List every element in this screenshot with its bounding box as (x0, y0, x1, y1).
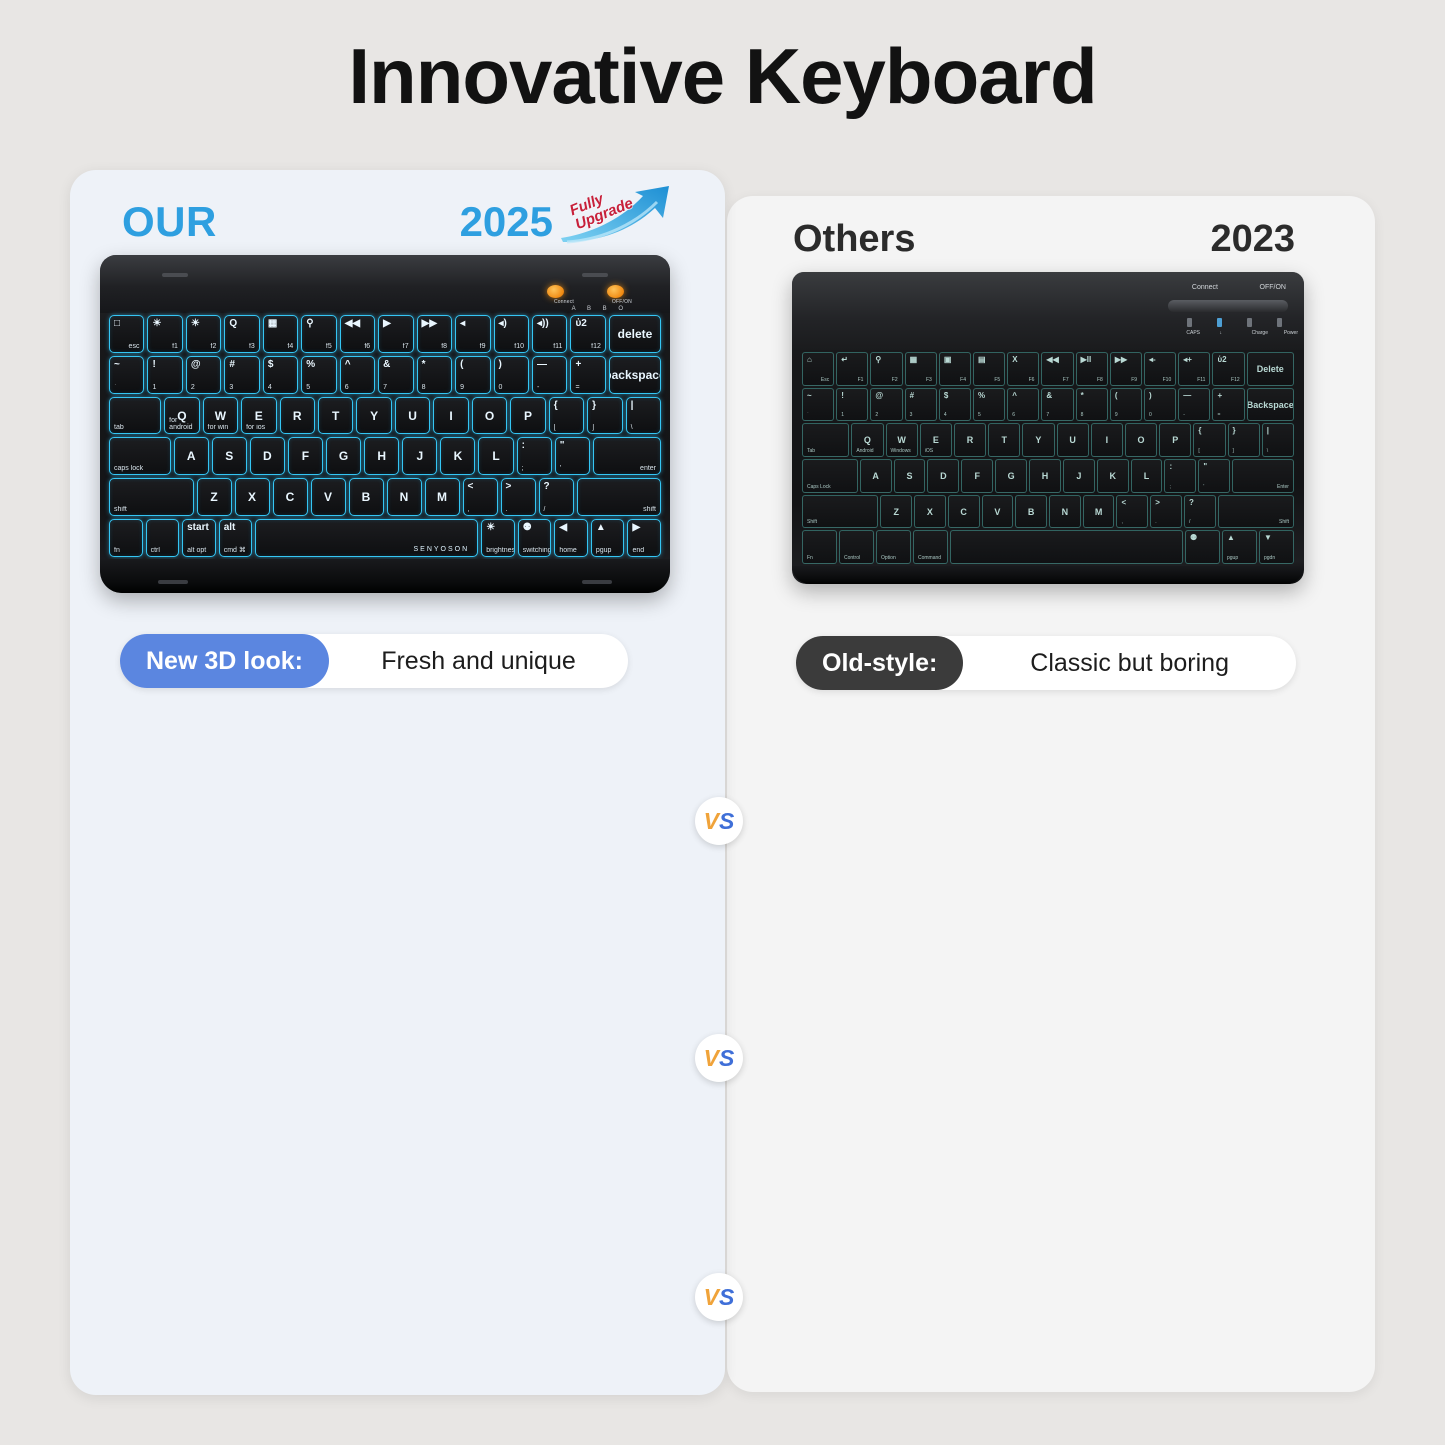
others-indicator-charge: Charge (1252, 330, 1268, 336)
key-sublabel: Android (856, 448, 873, 454)
keyboard-key[interactable]: (9 (455, 356, 490, 394)
key-primary-label: { (554, 400, 558, 411)
keyboard-key[interactable]: G (326, 437, 361, 475)
key-sublabel: pgup (1227, 555, 1238, 561)
others-keyboard-image: Connect OFF/ON CAPS ↓ Charge Power ⌂Esc↵… (792, 272, 1304, 584)
key-primary-label: ? (1189, 498, 1194, 507)
keyboard-key[interactable]: ☀f2 (186, 315, 221, 353)
keyboard-key[interactable]: ^6 (340, 356, 375, 394)
key-label: H (1030, 460, 1060, 492)
keyboard-key[interactable]: H (364, 437, 399, 475)
key-primary-label: ▲ (1227, 533, 1235, 542)
keyboard-row: FnControlOptionCommand⚉▲pgup▼pgdn (802, 530, 1294, 564)
keyboard-key[interactable]: @2 (186, 356, 221, 394)
key-label: tab (114, 424, 124, 431)
key-primary-label: ◂) (499, 318, 507, 329)
keyboard-key[interactable]: ▦f4 (263, 315, 298, 353)
key-primary-label: ▣ (944, 355, 952, 364)
keyboard-key[interactable]: ▣F4 (939, 352, 971, 386)
key-primary-label: ⚉ (1190, 533, 1197, 542)
keyboard-key[interactable]: M (1083, 495, 1115, 529)
keyboard-key[interactable]: O (1125, 423, 1157, 457)
keyboard-key[interactable]: ▲pgup (591, 519, 625, 557)
keyboard-key[interactable]: Enter (1232, 459, 1294, 493)
our-keyboard-status-icons: A B B O (572, 306, 628, 312)
keyboard-key[interactable]: altcmd ⌘ (219, 519, 253, 557)
keyboard-key[interactable]: >. (1150, 495, 1182, 529)
keyboard-key[interactable]: ▶▶F9 (1110, 352, 1142, 386)
key-label: N (1050, 496, 1080, 528)
key-label: L (1132, 460, 1162, 492)
keyboard-key[interactable]: ?/ (539, 478, 574, 516)
others-switch-strip (1168, 300, 1288, 312)
keyboard-key[interactable]: ◀◀F7 (1041, 352, 1073, 386)
keyboard-key[interactable]: Option (876, 530, 911, 564)
key-primary-label: % (306, 359, 315, 370)
keyboard-key[interactable]: ὑ2F12 (1212, 352, 1244, 386)
keyboard-key[interactable]: %5 (301, 356, 336, 394)
keyboard-key[interactable]: S (212, 437, 247, 475)
key-primary-label: + (575, 359, 581, 370)
key-primary-label: ⚲ (875, 355, 881, 364)
key-primary-label: ↵ (841, 355, 848, 364)
key-label: Y (1023, 424, 1053, 456)
key-sublabel: , (1121, 519, 1122, 525)
key-sublabel: iOS (925, 448, 933, 454)
key-primary-label: ◂ (460, 318, 465, 329)
keyboard-key[interactable]: K (440, 437, 475, 475)
keyboard-key[interactable]: P (510, 397, 545, 435)
keyboard-key[interactable]: ctrl (146, 519, 180, 557)
keyboard-key[interactable]: A (174, 437, 209, 475)
keyboard-key[interactable]: U (395, 397, 430, 435)
keyboard-key[interactable]: M (425, 478, 460, 516)
vs-badge-1-s: S (719, 808, 734, 835)
key-primary-label: ( (1115, 391, 1118, 400)
keyboard-key[interactable]: ▶end (627, 519, 661, 557)
keyboard-key[interactable]: ▼pgdn (1259, 530, 1294, 564)
key-label: R (955, 424, 985, 456)
keyboard-key[interactable]: "' (555, 437, 590, 475)
keyboard-key[interactable]: Qf3 (224, 315, 259, 353)
key-secondary-label: esc (129, 343, 140, 350)
keyboard-key[interactable]: delete (609, 315, 661, 353)
keyboard-key[interactable]: += (570, 356, 605, 394)
keyboard-key[interactable]: ^6 (1007, 388, 1039, 422)
key-label: O (473, 398, 506, 434)
keyboard-key[interactable]: ◂))f11 (532, 315, 567, 353)
keyboard-key[interactable]: *8 (1076, 388, 1108, 422)
keyboard-key[interactable]: F (961, 459, 993, 493)
connect-led-label: Connect (554, 299, 574, 305)
key-label: ctrl (151, 547, 160, 554)
keyboard-key[interactable]: shift (577, 478, 662, 516)
key-sublabel: = (1217, 412, 1220, 418)
keyboard-key[interactable]: T (988, 423, 1020, 457)
keyboard-key[interactable]: SENYOSON (255, 519, 478, 557)
key-primary-label: ~ (807, 391, 812, 400)
keyboard-key[interactable]: Control (839, 530, 874, 564)
key-label: Shift (807, 519, 817, 525)
key-label: J (1064, 460, 1094, 492)
vs-badge-3-v: V (704, 1284, 719, 1311)
keyboard-key[interactable]: V (311, 478, 346, 516)
keyboard-key[interactable]: ◀◀f6 (340, 315, 375, 353)
key-label: enter (640, 465, 656, 472)
keyboard-key[interactable]: QAndroid (851, 423, 883, 457)
key-sublabel: pgup (596, 547, 612, 554)
keyboard-key[interactable]: Z (880, 495, 912, 529)
keyboard-key[interactable]: L (1131, 459, 1163, 493)
keyboard-key[interactable]: Tab (802, 423, 849, 457)
key-label: K (1098, 460, 1128, 492)
keyboard-key[interactable]: ⚉ (1185, 530, 1220, 564)
keyboard-key[interactable]: I (433, 397, 468, 435)
key-secondary-label: f6 (364, 343, 370, 350)
key-sublabel: 4 (268, 384, 272, 391)
keyboard-key[interactable]: C (948, 495, 980, 529)
our-keyboard-foot (100, 559, 670, 593)
keyboard-key[interactable]: ▦F3 (905, 352, 937, 386)
keyboard-key[interactable]: )0 (494, 356, 529, 394)
key-label: A (175, 438, 208, 474)
key-label: Backspace (1248, 389, 1293, 421)
keyboard-key[interactable]: ⌂Esc (802, 352, 834, 386)
key-primary-label: | (631, 400, 634, 411)
key-sublabel: for win (208, 424, 229, 431)
key-label: R (281, 398, 314, 434)
key-secondary-label: F8 (1097, 377, 1103, 383)
keyboard-key[interactable]: U (1057, 423, 1089, 457)
keyboard-key[interactable]: ↵F1 (836, 352, 868, 386)
keyboard-key[interactable]: ▲pgup (1222, 530, 1257, 564)
key-secondary-label: F2 (892, 377, 898, 383)
keyboard-key[interactable]: <, (463, 478, 498, 516)
key-label: P (1160, 424, 1190, 456)
keyboard-key[interactable]: |\ (1262, 423, 1294, 457)
keyboard-key[interactable]: R (280, 397, 315, 435)
keyboard-key[interactable]: Efor ios (241, 397, 276, 435)
others-key-grid: ⌂Esc↵F1⚲F2▦F3▣F4▤F5XF6◀◀F7▶IIF8▶▶F9◂-F10… (802, 352, 1294, 564)
others-indicator-dot-charge (1247, 318, 1252, 327)
key-primary-label: * (422, 359, 426, 370)
keyboard-key[interactable]: ☀f1 (147, 315, 182, 353)
keyboard-key[interactable]: startalt opt (182, 519, 216, 557)
key-sublabel: - (537, 384, 539, 391)
keyboard-key[interactable]: += (1212, 388, 1244, 422)
keyboard-key[interactable]: :; (517, 437, 552, 475)
keyboard-key[interactable]: ?/ (1184, 495, 1216, 529)
keyboard-key[interactable]: $4 (263, 356, 298, 394)
keyboard-key[interactable]: ~` (109, 356, 144, 394)
key-label: V (983, 496, 1013, 528)
key-sublabel: ] (1233, 448, 1234, 454)
keyboard-key[interactable]: }] (1228, 423, 1260, 457)
key-sublabel: 3 (910, 412, 913, 418)
key-primary-label: + (1217, 391, 1222, 400)
vs-badge-2: VS (695, 1034, 743, 1082)
keyboard-key[interactable]: F (288, 437, 323, 475)
keyboard-key[interactable]: R (954, 423, 986, 457)
key-primary-label: ◀◀ (1046, 355, 1058, 364)
key-label: H (365, 438, 398, 474)
keyboard-key[interactable]: C (273, 478, 308, 516)
keyboard-key[interactable]: ⚉switching (518, 519, 552, 557)
keyboard-key[interactable]: G (995, 459, 1027, 493)
key-sublabel: 0 (1149, 412, 1152, 418)
keyboard-key[interactable]: ~` (802, 388, 834, 422)
keyboard-key[interactable]: Y (356, 397, 391, 435)
keyboard-key[interactable]: X (235, 478, 270, 516)
keyboard-row: ~`!1@2#3$4%5^6&7*8(9)0—-+=backspace (109, 356, 661, 394)
keyboard-key[interactable]: <, (1116, 495, 1148, 529)
keyboard-key[interactable]: &7 (1041, 388, 1073, 422)
keyboard-key[interactable]: :; (1164, 459, 1196, 493)
key-label: B (350, 479, 383, 515)
keyboard-key[interactable]: |\ (626, 397, 661, 435)
keyboard-key[interactable]: #3 (224, 356, 259, 394)
key-sublabel: 6 (345, 384, 349, 391)
key-secondary-label: F9 (1131, 377, 1137, 383)
keyboard-key[interactable]: caps lock (109, 437, 171, 475)
vs-badge-1-v: V (704, 808, 719, 835)
keyboard-key[interactable]: WWindows (886, 423, 918, 457)
keyboard-key[interactable]: shift (109, 478, 194, 516)
key-label: F (289, 438, 322, 474)
keyboard-key[interactable]: H (1029, 459, 1061, 493)
key-secondary-label: f4 (287, 343, 293, 350)
key-secondary-label: f2 (211, 343, 217, 350)
keyboard-key[interactable] (950, 530, 1183, 564)
key-primary-label: ) (499, 359, 502, 370)
keyboard-key[interactable]: T (318, 397, 353, 435)
key-primary-label: Q (229, 318, 237, 329)
key-primary-label: } (1233, 426, 1236, 435)
keyboard-key[interactable]: ▶f7 (378, 315, 413, 353)
key-secondary-label: f7 (403, 343, 409, 350)
keyboard-key[interactable]: K (1097, 459, 1129, 493)
key-label: X (236, 479, 269, 515)
keyboard-key[interactable]: B (349, 478, 384, 516)
keyboard-key[interactable]: ◂)f10 (494, 315, 529, 353)
key-sublabel: alt opt (187, 547, 206, 554)
key-sublabel: - (1183, 412, 1185, 418)
keyboard-key[interactable]: —- (1178, 388, 1210, 422)
keyboard-key[interactable]: "' (1198, 459, 1230, 493)
keyboard-key[interactable]: $4 (939, 388, 971, 422)
keyboard-key[interactable]: ὑ2f12 (570, 315, 605, 353)
keyboard-key[interactable]: P (1159, 423, 1191, 457)
keyboard-key[interactable]: ◂f9 (455, 315, 490, 353)
keyboard-key[interactable]: ▶▶f8 (417, 315, 452, 353)
keyboard-row: Caps LockASDFGHJKL:;"'Enter (802, 459, 1294, 493)
key-primary-label: ▶ (383, 318, 391, 329)
power-led-label: OFF/ON (612, 299, 632, 305)
key-primary-label: ▤ (978, 355, 986, 364)
page-title: Innovative Keyboard (0, 34, 1445, 120)
key-sublabel: end (632, 547, 644, 554)
keyboard-key[interactable]: enter (593, 437, 661, 475)
our-keyboard-foot-nub-left (158, 580, 188, 584)
keyboard-key[interactable]: Shift (1218, 495, 1294, 529)
keyboard-key[interactable]: fn (109, 519, 143, 557)
key-secondary-label: F12 (1231, 377, 1240, 383)
keyboard-key[interactable]: &7 (378, 356, 413, 394)
keyboard-key[interactable]: XF6 (1007, 352, 1039, 386)
keyboard-key[interactable]: Caps Lock (802, 459, 858, 493)
key-label: Fn (807, 555, 813, 561)
keyboard-key[interactable]: {[ (549, 397, 584, 435)
key-primary-label: ▶II (1081, 355, 1092, 364)
key-label: K (441, 438, 474, 474)
key-sublabel: 9 (460, 384, 464, 391)
key-primary-label: " (560, 440, 565, 451)
key-primary-label: % (978, 391, 985, 400)
keyboard-key[interactable]: D (927, 459, 959, 493)
key-primary-label: start (187, 522, 209, 533)
keyboard-key[interactable]: {[ (1193, 423, 1225, 457)
keyboard-row: ~`!1@2#3$4%5^6&7*8(9)0—-+=Backspace (802, 388, 1294, 422)
keyboard-key[interactable]: —- (532, 356, 567, 394)
others-brand-label: Others (793, 218, 915, 261)
keyboard-key[interactable]: ☀brightness (481, 519, 515, 557)
keyboard-key[interactable]: X (914, 495, 946, 529)
keyboard-row: shiftZXCVBNM<,>.?/shift (109, 478, 661, 516)
keyboard-key[interactable]: B (1015, 495, 1047, 529)
keyboard-key[interactable]: ▶IIF8 (1076, 352, 1108, 386)
keyboard-key[interactable]: !1 (147, 356, 182, 394)
keyboard-key[interactable]: I (1091, 423, 1123, 457)
keyboard-key[interactable]: A (860, 459, 892, 493)
key-primary-label: $ (268, 359, 274, 370)
key-secondary-label: f10 (514, 343, 524, 350)
vs-badge-3-s: S (719, 1284, 734, 1311)
our-keyboard-image: Connect OFF/ON A B B O □esc☀f1☀f2Qf3▦f4⚲… (100, 255, 670, 593)
keyboard-key[interactable]: Y (1022, 423, 1054, 457)
key-label: T (989, 424, 1019, 456)
others-panel: Others 2023 Connect OFF/ON CAPS ↓ Charge… (727, 196, 1375, 1392)
our-keyboard-vent-left (162, 273, 188, 277)
key-primary-label: ^ (345, 359, 351, 370)
key-label: Delete (1248, 353, 1293, 385)
keyboard-key[interactable]: Backspace (1247, 388, 1294, 422)
key-sublabel: 1 (841, 412, 844, 418)
others-keyboard-foot (792, 566, 1304, 584)
keyboard-key[interactable]: Z (197, 478, 232, 516)
key-primary-label: } (592, 400, 596, 411)
key-label: D (251, 438, 284, 474)
keyboard-key[interactable]: D (250, 437, 285, 475)
key-primary-label: ▶ (632, 522, 640, 533)
keyboard-key[interactable]: N (387, 478, 422, 516)
key-primary-label: < (1121, 498, 1126, 507)
keyboard-key[interactable]: S (894, 459, 926, 493)
key-secondary-label: F7 (1063, 377, 1069, 383)
key-sublabel: ; (1169, 484, 1170, 490)
keyboard-key[interactable]: (9 (1110, 388, 1142, 422)
key-secondary-label: Esc (821, 377, 829, 383)
keyboard-key[interactable]: *8 (417, 356, 452, 394)
key-label: shift (114, 506, 127, 513)
key-label: J (403, 438, 436, 474)
key-sublabel: ; (522, 465, 524, 472)
keyboard-key[interactable]: O (472, 397, 507, 435)
keyboard-key[interactable]: □esc (109, 315, 144, 353)
key-primary-label: : (522, 440, 525, 451)
keyboard-key[interactable]: J (402, 437, 437, 475)
key-primary-label: X (1012, 355, 1017, 364)
keyboard-key[interactable]: @2 (870, 388, 902, 422)
key-label: U (1058, 424, 1088, 456)
keyboard-key[interactable]: Shift (802, 495, 878, 529)
key-primary-label: ) (1149, 391, 1152, 400)
keyboard-key[interactable]: Qfor android (164, 397, 199, 435)
keyboard-key[interactable]: tab (109, 397, 161, 435)
keyboard-key[interactable]: Delete (1247, 352, 1294, 386)
key-label: Y (357, 398, 390, 434)
power-led (607, 285, 624, 298)
key-primary-label: ☀ (152, 318, 161, 329)
keyboard-key[interactable]: )0 (1144, 388, 1176, 422)
keyboard-key[interactable]: ◂+F11 (1178, 352, 1210, 386)
keyboard-key[interactable]: Command (913, 530, 948, 564)
key-label: A (861, 460, 891, 492)
key-primary-label: □ (114, 318, 120, 329)
keyboard-key[interactable]: EiOS (920, 423, 952, 457)
keyboard-key[interactable]: ⚲f5 (301, 315, 336, 353)
keyboard-key[interactable]: Wfor win (203, 397, 238, 435)
keyboard-key[interactable]: ◂-F10 (1144, 352, 1176, 386)
key-primary-label: ? (544, 481, 550, 492)
key-secondary-label: f12 (591, 343, 601, 350)
keyboard-key[interactable]: !1 (836, 388, 868, 422)
keyboard-key[interactable]: L (478, 437, 513, 475)
keyboard-key[interactable]: N (1049, 495, 1081, 529)
key-sublabel: [ (554, 424, 556, 431)
others-keyboard-body: Connect OFF/ON CAPS ↓ Charge Power ⌂Esc↵… (792, 272, 1304, 584)
keyboard-key[interactable]: backspace (609, 356, 661, 394)
keyboard-key[interactable]: }] (587, 397, 622, 435)
our-keyboard-vent-right (582, 273, 608, 277)
key-sublabel: cmd ⌘ (224, 546, 246, 554)
keyboard-key[interactable]: Fn (802, 530, 837, 564)
keyboard-key[interactable]: %5 (973, 388, 1005, 422)
keyboard-row: TabQAndroidWWindowsEiOSRTYUIOP{[}]|\ (802, 423, 1294, 457)
key-sublabel: . (1155, 519, 1156, 525)
key-primary-label: ( (460, 359, 463, 370)
keyboard-key[interactable]: ▤F5 (973, 352, 1005, 386)
keyboard-key[interactable]: #3 (905, 388, 937, 422)
key-label: O (1126, 424, 1156, 456)
keyboard-key[interactable]: >. (501, 478, 536, 516)
keyboard-row: □esc☀f1☀f2Qf3▦f4⚲f5◀◀f6▶f7▶▶f8◂f9◂)f10◂)… (109, 315, 661, 353)
key-secondary-label: F3 (926, 377, 932, 383)
key-primary-label: ὑ2 (1217, 355, 1226, 364)
keyboard-key[interactable]: ⚲F2 (870, 352, 902, 386)
key-sublabel: \ (1267, 448, 1268, 454)
key-sublabel: ] (592, 424, 594, 431)
key-primary-label: * (1081, 391, 1084, 400)
others-connect-label: Connect (1192, 284, 1218, 291)
key-sublabel: 8 (422, 384, 426, 391)
keyboard-key[interactable]: ◀home (554, 519, 588, 557)
our-key-grid: □esc☀f1☀f2Qf3▦f4⚲f5◀◀f6▶f7▶▶f8◂f9◂)f10◂)… (109, 315, 661, 557)
others-indicator-bluetooth: ↓ (1220, 330, 1223, 336)
key-label: V (312, 479, 345, 515)
keyboard-key[interactable]: J (1063, 459, 1095, 493)
key-label: Z (198, 479, 231, 515)
keyboard-key[interactable]: V (982, 495, 1014, 529)
